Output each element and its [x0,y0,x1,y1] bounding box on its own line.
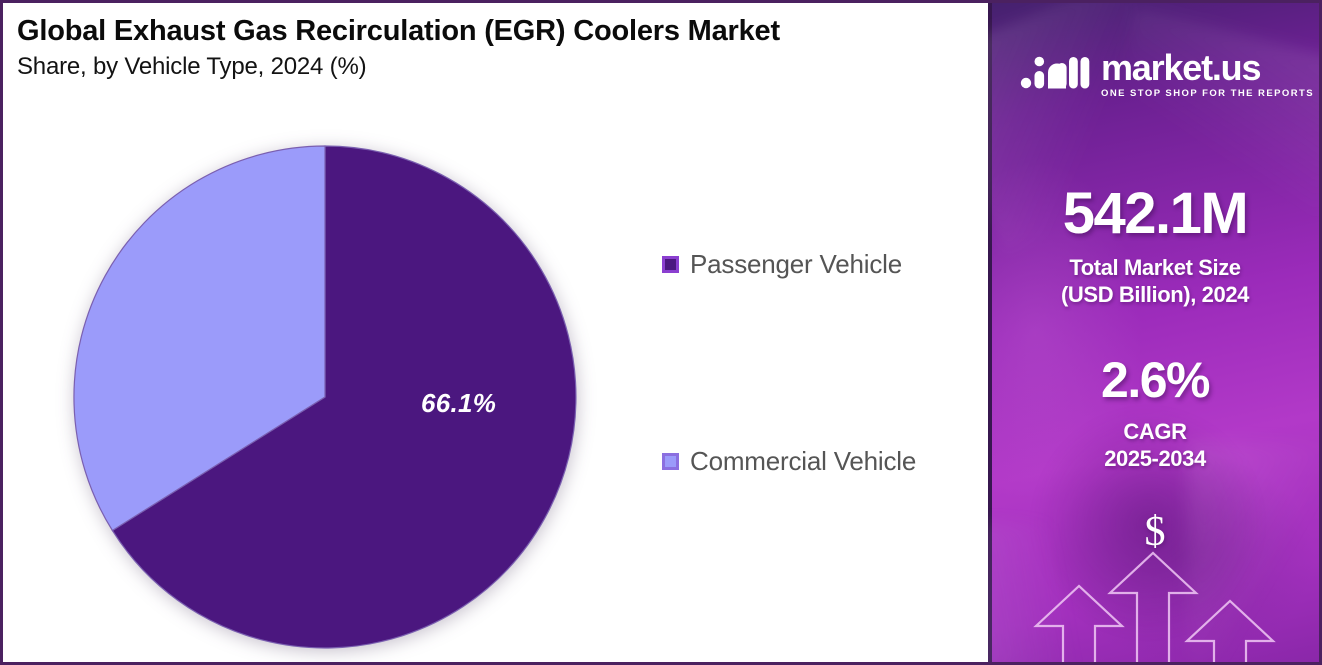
page-subtitle: Share, by Vehicle Type, 2024 (%) [17,54,957,81]
stat-caption: CAGR 2025-2034 [988,419,1322,473]
stat-value: 2.6% [988,355,1322,405]
stat-cagr: 2.6% CAGR 2025-2034 [988,355,1322,473]
legend-swatch-icon [662,256,679,273]
legend-item-commercial-vehicle[interactable]: Commercial Vehicle [662,446,916,477]
stat-caption-line-2: (USD Billion), 2024 [988,282,1322,309]
legend-swatch-icon [662,453,679,470]
stat-value: 542.1M [988,185,1322,243]
stat-caption: Total Market Size (USD Billion), 2024 [988,255,1322,309]
growth-arrows-decoration: $ [988,508,1322,662]
brand-text: market.us ONE STOP SHOP FOR THE REPORTS [1101,51,1314,99]
pie-chart: 66.1% [69,141,581,653]
pie-svg [69,141,581,653]
arrows-svg [988,508,1322,662]
stat-caption-line-1: Total Market Size [988,255,1322,282]
up-arrow-icon [1187,601,1273,662]
brand-tagline: ONE STOP SHOP FOR THE REPORTS [1101,88,1314,99]
up-arrow-icon [1110,553,1196,662]
infographic-root: Global Exhaust Gas Recirculation (EGR) C… [0,0,1322,665]
stats-panel: market.us ONE STOP SHOP FOR THE REPORTS … [988,3,1322,662]
stat-caption-line-1: CAGR [988,419,1322,446]
brand-logo[interactable]: market.us ONE STOP SHOP FOR THE REPORTS [1020,51,1314,99]
title-block: Global Exhaust Gas Recirculation (EGR) C… [17,15,957,81]
legend-item-label: Passenger Vehicle [690,249,902,280]
legend-item-label: Commercial Vehicle [690,446,916,477]
pie-slice-value-label: 66.1% [421,388,496,419]
stat-total-market-size: 542.1M Total Market Size (USD Billion), … [988,185,1322,309]
market-us-logo-icon [1020,53,1090,98]
legend-item-passenger-vehicle[interactable]: Passenger Vehicle [662,249,902,280]
stat-caption-line-2: 2025-2034 [988,446,1322,473]
page-title: Global Exhaust Gas Recirculation (EGR) C… [17,15,957,47]
brand-name: market.us [1101,51,1314,85]
up-arrow-icon [1036,586,1122,662]
chart-panel: Global Exhaust Gas Recirculation (EGR) C… [3,3,988,662]
